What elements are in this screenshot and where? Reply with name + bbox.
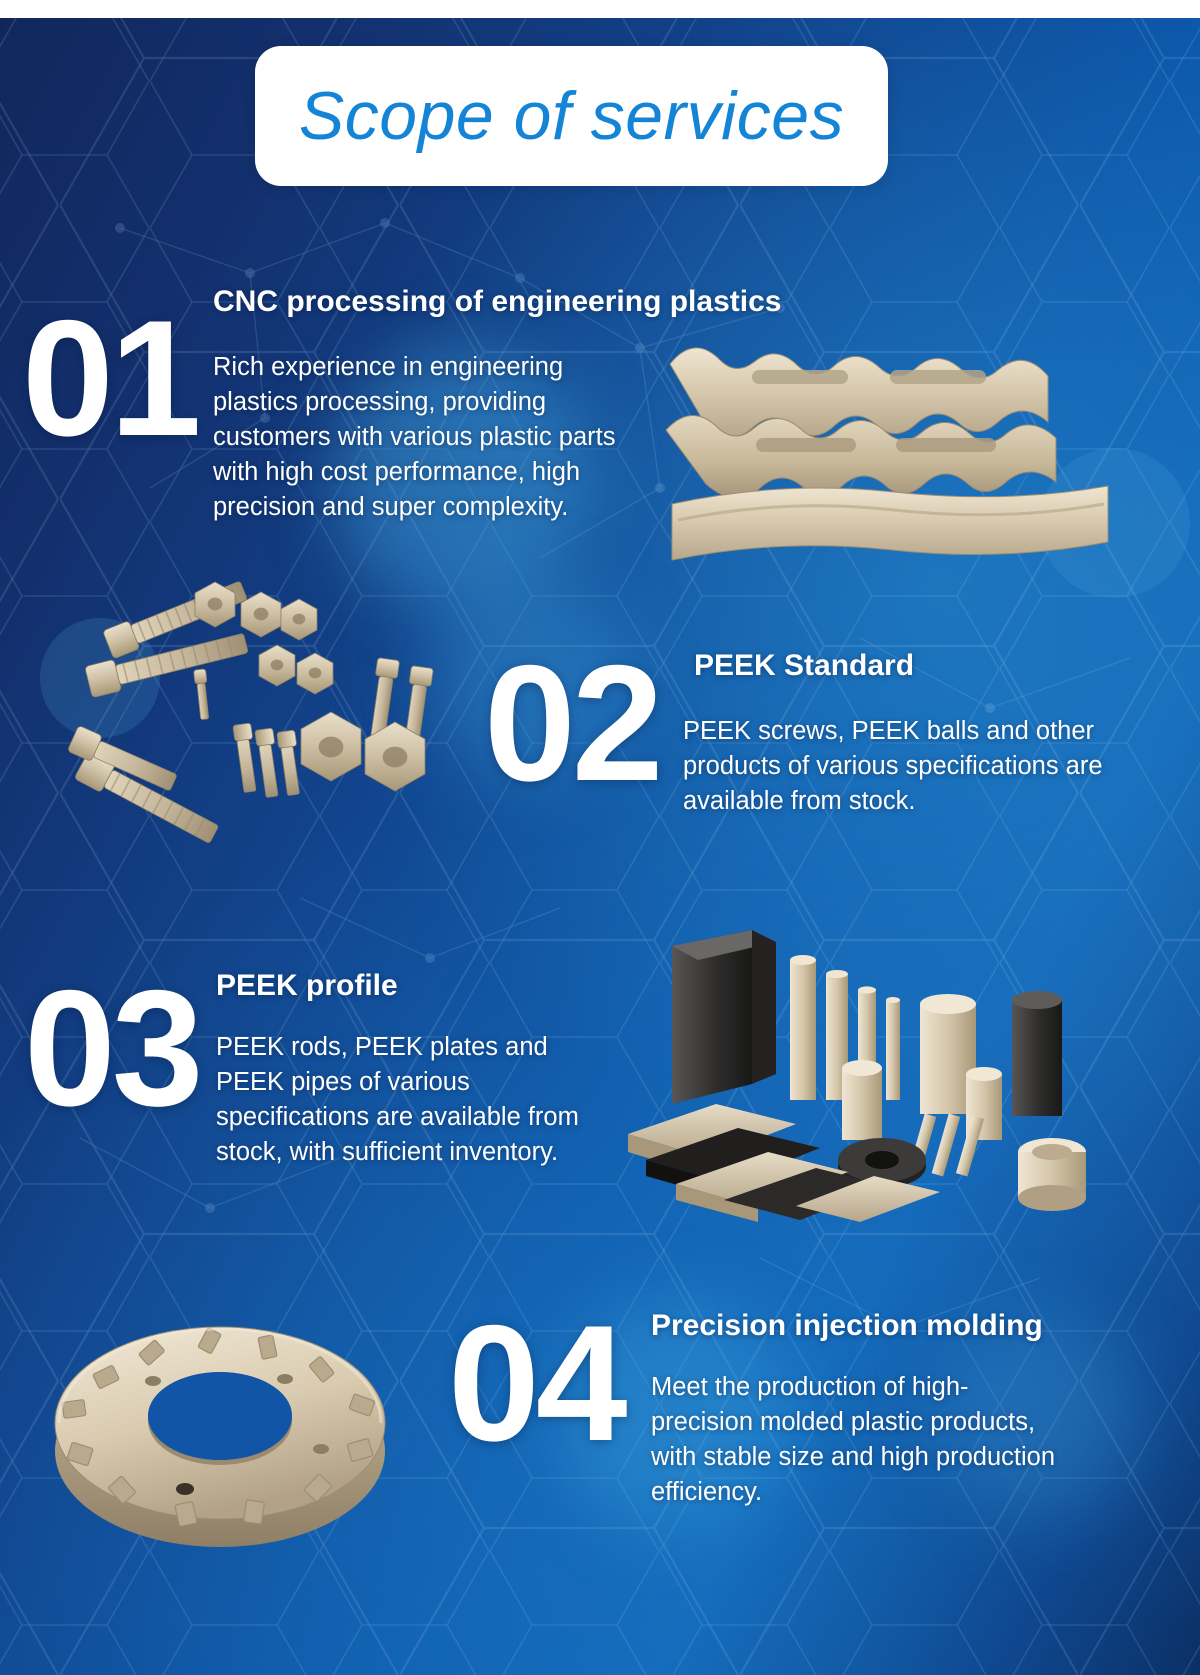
section-02-heading: PEEK Standard	[694, 648, 914, 684]
section-02-number: 02	[484, 648, 660, 798]
poster-canvas: Scope of services	[0, 18, 1200, 1675]
section-01-image	[660, 318, 1120, 583]
section-01-heading: CNC processing of engineering plastics	[213, 284, 781, 320]
section-04-heading: Precision injection molding	[651, 1308, 1043, 1344]
section-03-number: 03	[24, 973, 200, 1123]
section-02-image	[45, 563, 465, 863]
page-title: Scope of services	[299, 77, 844, 155]
section-01-number: 01	[22, 303, 198, 453]
section-02-body: PEEK screws, PEEK balls and other produc…	[683, 714, 1103, 819]
section-01-body: Rich experience in engineering plastics …	[213, 350, 643, 525]
section-03-heading: PEEK profile	[216, 968, 398, 1004]
section-04-number: 04	[448, 1308, 624, 1458]
section-03-image	[620, 908, 1120, 1228]
page-title-card: Scope of services	[255, 46, 888, 186]
section-04-body: Meet the production of high-precision mo…	[651, 1370, 1061, 1510]
section-03-body: PEEK rods, PEEK plates and PEEK pipes of…	[216, 1030, 616, 1170]
section-04-image	[35, 1273, 435, 1573]
